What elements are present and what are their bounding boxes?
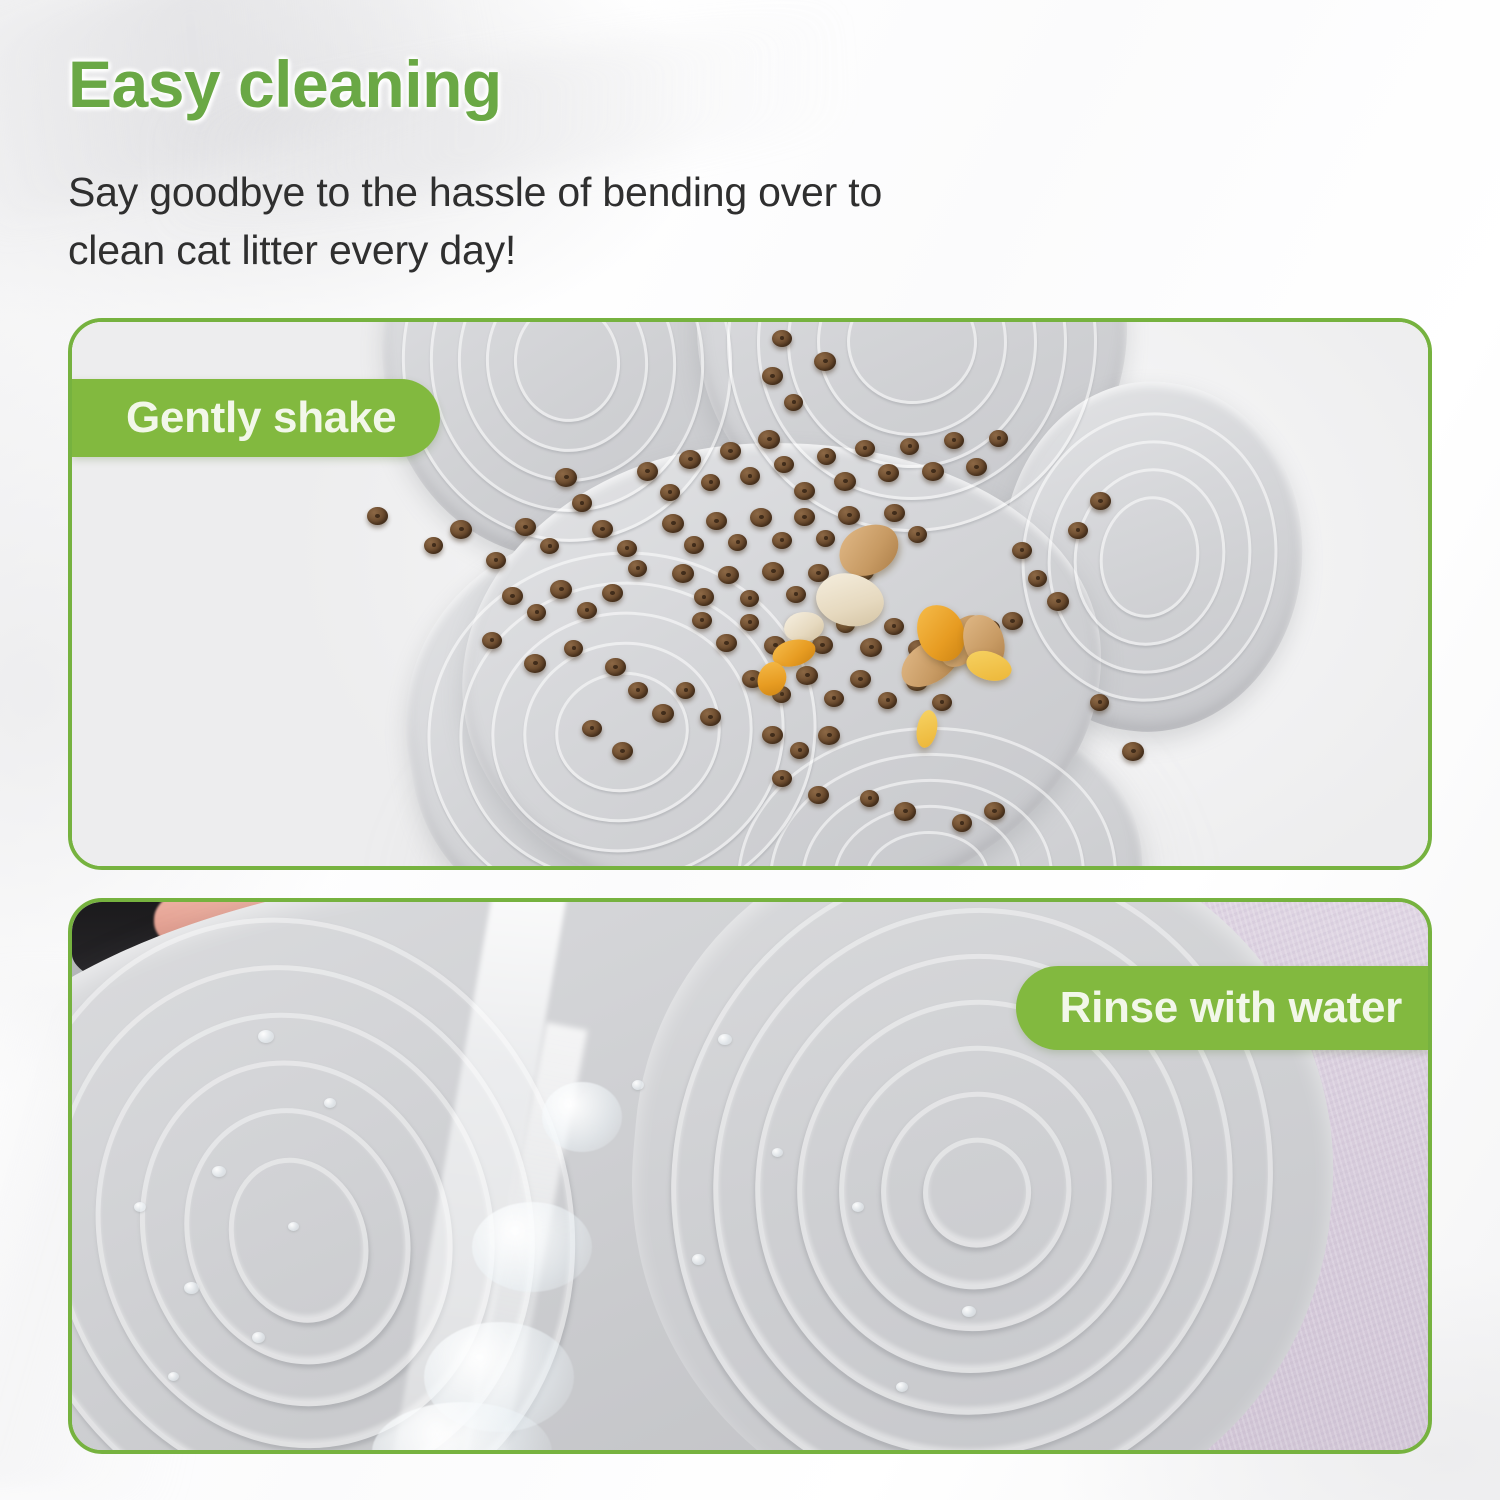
label-gently-shake: Gently shake [72, 379, 440, 457]
infographic-page: Easy cleaning Say goodbye to the hassle … [0, 0, 1500, 1500]
card-rinse-with-water: Rinse with water [68, 898, 1432, 1454]
page-title: Easy cleaning [68, 46, 502, 122]
water-splash [542, 1082, 622, 1152]
photo-gently-shake: Gently shake [72, 322, 1428, 866]
label-rinse-with-water: Rinse with water [1016, 966, 1428, 1050]
water-splash [472, 1202, 592, 1292]
photo-rinse-with-water: Rinse with water [72, 902, 1428, 1450]
description-line-2: clean cat litter every day! [68, 221, 1068, 279]
page-description: Say goodbye to the hassle of bending ove… [68, 163, 1068, 279]
card-gently-shake: Gently shake [68, 318, 1432, 870]
description-line-1: Say goodbye to the hassle of bending ove… [68, 169, 882, 215]
